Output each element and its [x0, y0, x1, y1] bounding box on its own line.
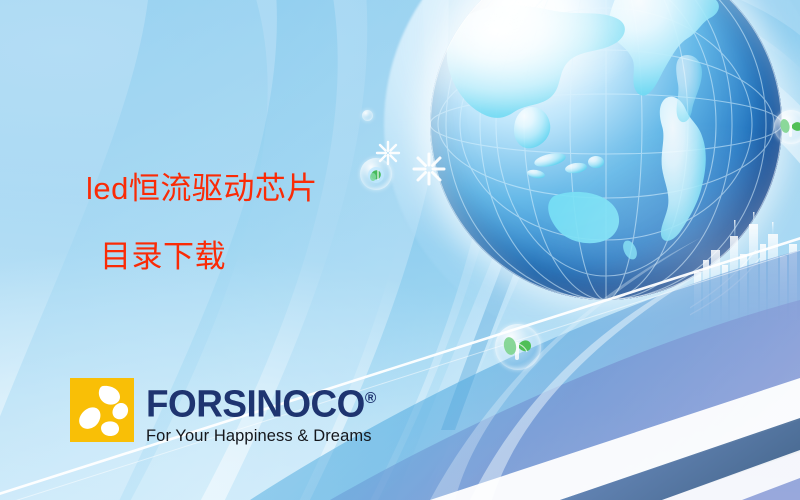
- pinwheel-petals-icon: [70, 378, 134, 442]
- logo-text-block: FORSINOCO® For Your Happiness & Dreams: [146, 378, 383, 446]
- headline-text: led恒流驱动芯片 目录下载: [86, 168, 318, 278]
- decorative-bubble-with-globe: [360, 158, 392, 190]
- bubble-surface: [362, 110, 373, 121]
- logo-wordmark: FORSINOCO®: [146, 380, 376, 424]
- headline-line-1: led恒流驱动芯片: [86, 171, 318, 206]
- registered-trademark-symbol: ®: [365, 390, 376, 407]
- mini-globe-icon: [360, 158, 392, 190]
- logo-wordmark-label: FORSINOCO: [146, 384, 365, 426]
- decorative-bubble-with-plant: [774, 110, 800, 144]
- plant-sprout-icon: [495, 324, 541, 370]
- sparkle-icon: [412, 152, 446, 186]
- brand-logo: FORSINOCO® For Your Happiness & Dreams: [70, 378, 383, 446]
- plant-sprout-icon: [774, 110, 800, 144]
- forsinoco-pinwheel-mark: [70, 378, 134, 442]
- logo-tagline: For Your Happiness & Dreams: [146, 426, 383, 446]
- headline-line-2: 目录下载: [86, 236, 318, 278]
- promotional-banner: led恒流驱动芯片 目录下载 FORSINOCO® For Your Happi…: [0, 0, 800, 500]
- decorative-bubble: [362, 110, 373, 121]
- decorative-bubble-with-plant: [495, 324, 541, 370]
